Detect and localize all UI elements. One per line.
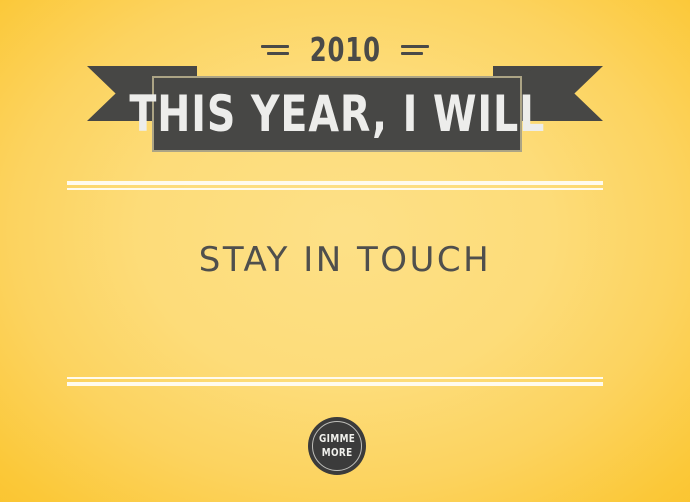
gimme-more-ring: GIMME MORE (312, 421, 362, 471)
gimme-more-button[interactable]: GIMME MORE (308, 417, 366, 475)
year-label: 2010 (309, 33, 380, 66)
poster-canvas: 2010 THIS YEAR, I WILL STAY IN TOUCH GIM… (0, 0, 690, 502)
divider-rule-thick (67, 382, 603, 386)
divider-rule-thin (67, 188, 603, 190)
year-header: 2010 (0, 33, 690, 66)
gimme-more-label-line1: GIMME (319, 433, 355, 446)
resolution-text: STAY IN TOUCH (0, 242, 690, 279)
flourish-right-icon (401, 45, 429, 55)
banner-title: THIS YEAR, I WILL (129, 89, 545, 139)
divider-top (67, 181, 603, 190)
flourish-left-icon (261, 45, 289, 55)
gimme-more-label-line2: MORE (322, 447, 353, 460)
ribbon-banner: THIS YEAR, I WILL (0, 64, 690, 154)
divider-bottom (67, 377, 603, 386)
banner-box: THIS YEAR, I WILL (152, 76, 522, 152)
